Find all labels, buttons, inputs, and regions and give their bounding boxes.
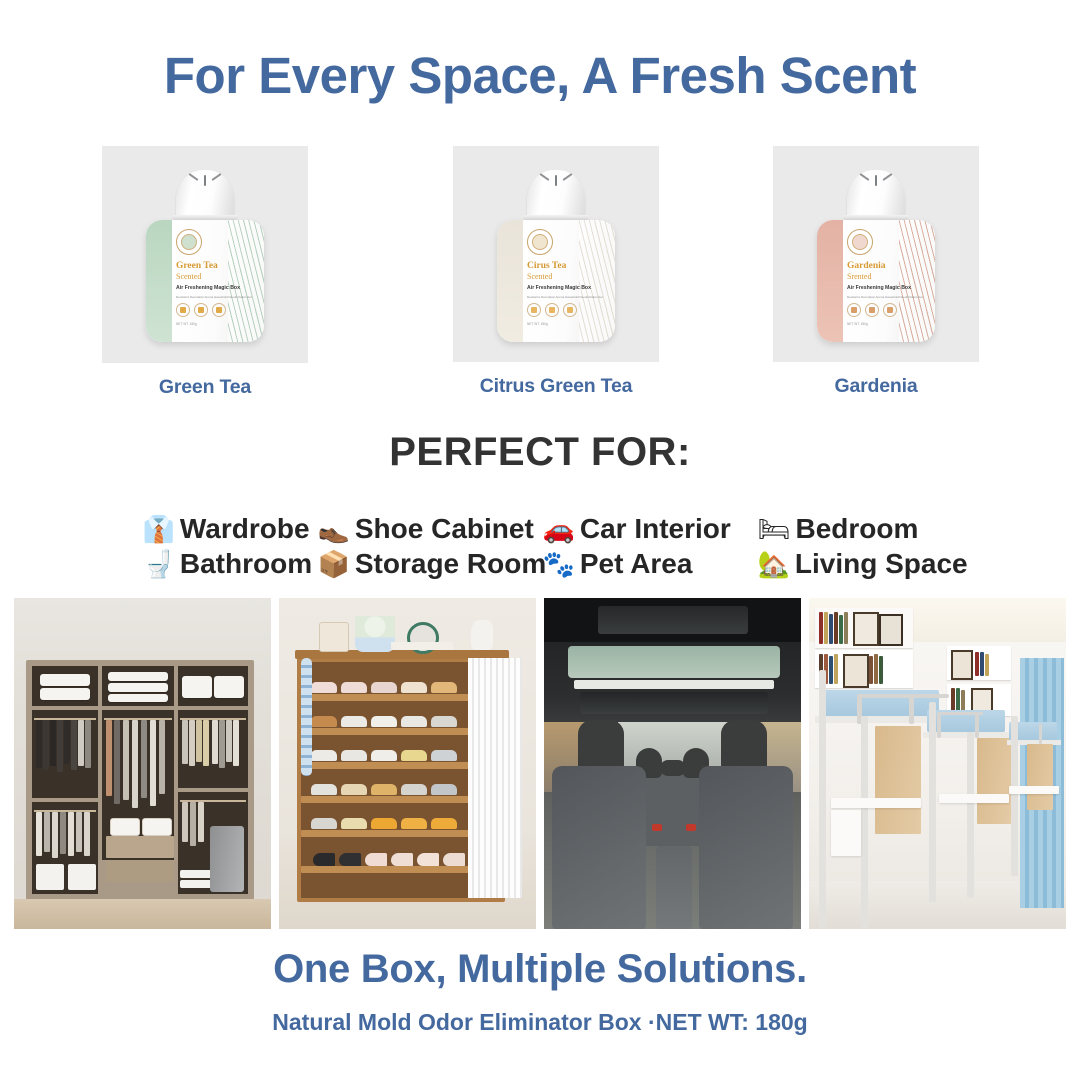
label-scent-name: Green Tea xyxy=(176,261,240,271)
use-case-pet-area: 🐾 Pet Area xyxy=(543,548,758,580)
bottle-illustration: Green Tea Scented Air Freshening Magic B… xyxy=(146,170,264,345)
product-variant-gardenia[interactable]: Gardenia Srented Air Freshening Magic Bo… xyxy=(773,146,979,398)
bed-icon: 🛏 xyxy=(758,515,791,545)
use-case-bedroom: 🛏 Bedroom xyxy=(758,513,948,545)
shoe-icon: 👞 xyxy=(318,515,350,545)
use-case-storage-room: 📦 Storage Room xyxy=(318,548,543,580)
page-title: For Every Space, A Fresh Scent xyxy=(0,46,1080,105)
car-icon: 🚗 xyxy=(543,515,575,545)
cap-vent-left-icon xyxy=(859,173,869,181)
product-caption-gardenia: Gardenia xyxy=(773,375,979,398)
bottle-body: Cirus Tea Scented Air Freshening Magic B… xyxy=(497,220,615,342)
feature-icon-3 xyxy=(883,303,897,317)
cap-vent-right-icon xyxy=(882,173,892,181)
shoe-rack-photo xyxy=(279,598,536,929)
use-case-row: 👔 Wardrobe 👞 Shoe Cabinet 🚗 Car Interior… xyxy=(0,513,1080,545)
label-feature-icons xyxy=(527,303,591,317)
use-case-label: Bedroom xyxy=(796,513,919,545)
feature-icon-3 xyxy=(563,303,577,317)
use-case-car-interior: 🚗 Car Interior xyxy=(543,513,758,545)
label-net-weight: NET WT. 180g xyxy=(527,322,591,326)
use-case-list: 👔 Wardrobe 👞 Shoe Cabinet 🚗 Car Interior… xyxy=(0,513,1080,583)
bottle-label: Gardenia Srented Air Freshening Magic Bo… xyxy=(847,229,911,326)
use-case-bathroom: 🚽 Bathroom xyxy=(143,548,318,580)
section-heading-perfect-for: PERFECT FOR: xyxy=(0,430,1080,475)
label-tagline: Air Freshening Magic Box xyxy=(527,285,591,292)
feature-icon-1 xyxy=(527,303,541,317)
product-variant-citrus-green-tea[interactable]: Cirus Tea Scented Air Freshening Magic B… xyxy=(453,146,659,398)
label-tagline: Air Freshening Magic Box xyxy=(176,285,240,292)
feature-icon-2 xyxy=(865,303,879,317)
bottle-body: Green Tea Scented Air Freshening Magic B… xyxy=(146,220,264,342)
bottle-cap-icon xyxy=(176,170,234,218)
footer-headline: One Box, Multiple Solutions. xyxy=(0,947,1080,992)
use-case-wardrobe: 👔 Wardrobe xyxy=(143,513,318,545)
use-case-row: 🚽 Bathroom 📦 Storage Room 🐾 Pet Area 🏡 L… xyxy=(0,548,1080,580)
label-scent-name: Cirus Tea xyxy=(527,261,591,271)
use-case-shoe-cabinet: 👞 Shoe Cabinet xyxy=(318,513,543,545)
bottle-side-tint xyxy=(817,220,843,342)
bottle-cap-icon xyxy=(527,170,585,218)
cap-vent-left-icon xyxy=(539,173,549,181)
footer-subtext: Natural Mold Odor Eliminator Box ·NET WT… xyxy=(0,1009,1080,1036)
use-case-label: Storage Room xyxy=(355,548,546,580)
product-image-citrus-green-tea: Cirus Tea Scented Air Freshening Magic B… xyxy=(453,146,659,362)
product-caption-green-tea: Green Tea xyxy=(102,376,308,399)
cap-vent-left-icon xyxy=(188,173,198,181)
bottle-illustration: Gardenia Srented Air Freshening Magic Bo… xyxy=(817,170,935,345)
label-scented-word: Srented xyxy=(847,272,911,282)
bottle-side-tint xyxy=(497,220,523,342)
label-feature-icons xyxy=(847,303,911,317)
cap-vent-center-icon xyxy=(875,175,877,186)
product-image-green-tea: Green Tea Scented Air Freshening Magic B… xyxy=(102,146,308,363)
necktie-icon: 👔 xyxy=(143,515,175,545)
photo-strip xyxy=(14,598,1066,929)
cap-vent-center-icon xyxy=(204,175,206,186)
package-icon: 📦 xyxy=(318,550,350,580)
bottle-side-tint xyxy=(146,220,172,342)
use-case-label: Wardrobe xyxy=(180,513,310,545)
label-seal-icon xyxy=(176,229,202,255)
bottle-cap-icon xyxy=(847,170,905,218)
feature-icon-3 xyxy=(212,303,226,317)
wardrobe-photo xyxy=(14,598,271,929)
bottle-label: Cirus Tea Scented Air Freshening Magic B… xyxy=(527,229,591,326)
product-caption-citrus-green-tea: Citrus Green Tea xyxy=(453,375,659,398)
feature-icon-1 xyxy=(847,303,861,317)
cap-vent-right-icon xyxy=(211,173,221,181)
product-variant-row: Green Tea Scented Air Freshening Magic B… xyxy=(0,146,1080,406)
label-net-weight: NET WT. 180g xyxy=(176,322,240,326)
product-image-gardenia: Gardenia Srented Air Freshening Magic Bo… xyxy=(773,146,979,362)
car-interior-photo xyxy=(544,598,801,929)
use-case-label: Pet Area xyxy=(580,548,693,580)
use-case-label: Shoe Cabinet xyxy=(355,513,534,545)
cap-vent-right-icon xyxy=(562,173,572,181)
label-description: Deodorize Decoration Aroma Household Deo… xyxy=(847,295,911,299)
bottle-body: Gardenia Srented Air Freshening Magic Bo… xyxy=(817,220,935,342)
label-description: Deodorize Decoration Aroma Household Deo… xyxy=(176,295,240,299)
paw-prints-icon: 🐾 xyxy=(543,550,575,580)
feature-icon-1 xyxy=(176,303,190,317)
cap-vent-center-icon xyxy=(555,175,557,186)
use-case-living-space: 🏡 Living Space xyxy=(758,548,948,580)
dorm-bedroom-photo xyxy=(809,598,1066,929)
house-icon: 🏡 xyxy=(758,550,790,580)
toilet-icon: 🚽 xyxy=(143,550,175,580)
bottle-label: Green Tea Scented Air Freshening Magic B… xyxy=(176,229,240,326)
product-variant-green-tea[interactable]: Green Tea Scented Air Freshening Magic B… xyxy=(102,146,308,399)
feature-icon-2 xyxy=(545,303,559,317)
use-case-label: Bathroom xyxy=(180,548,312,580)
bottle-illustration: Cirus Tea Scented Air Freshening Magic B… xyxy=(497,170,615,345)
label-description: Deodorize Decoration Aroma Household Deo… xyxy=(527,295,591,299)
label-tagline: Air Freshening Magic Box xyxy=(847,285,911,292)
label-scented-word: Scented xyxy=(176,272,240,282)
label-seal-icon xyxy=(527,229,553,255)
label-feature-icons xyxy=(176,303,240,317)
label-seal-icon xyxy=(847,229,873,255)
label-net-weight: NET WT. 180g xyxy=(847,322,911,326)
label-scent-name: Gardenia xyxy=(847,261,911,271)
use-case-label: Car Interior xyxy=(580,513,731,545)
use-case-label: Living Space xyxy=(795,548,968,580)
feature-icon-2 xyxy=(194,303,208,317)
label-scented-word: Scented xyxy=(527,272,591,282)
